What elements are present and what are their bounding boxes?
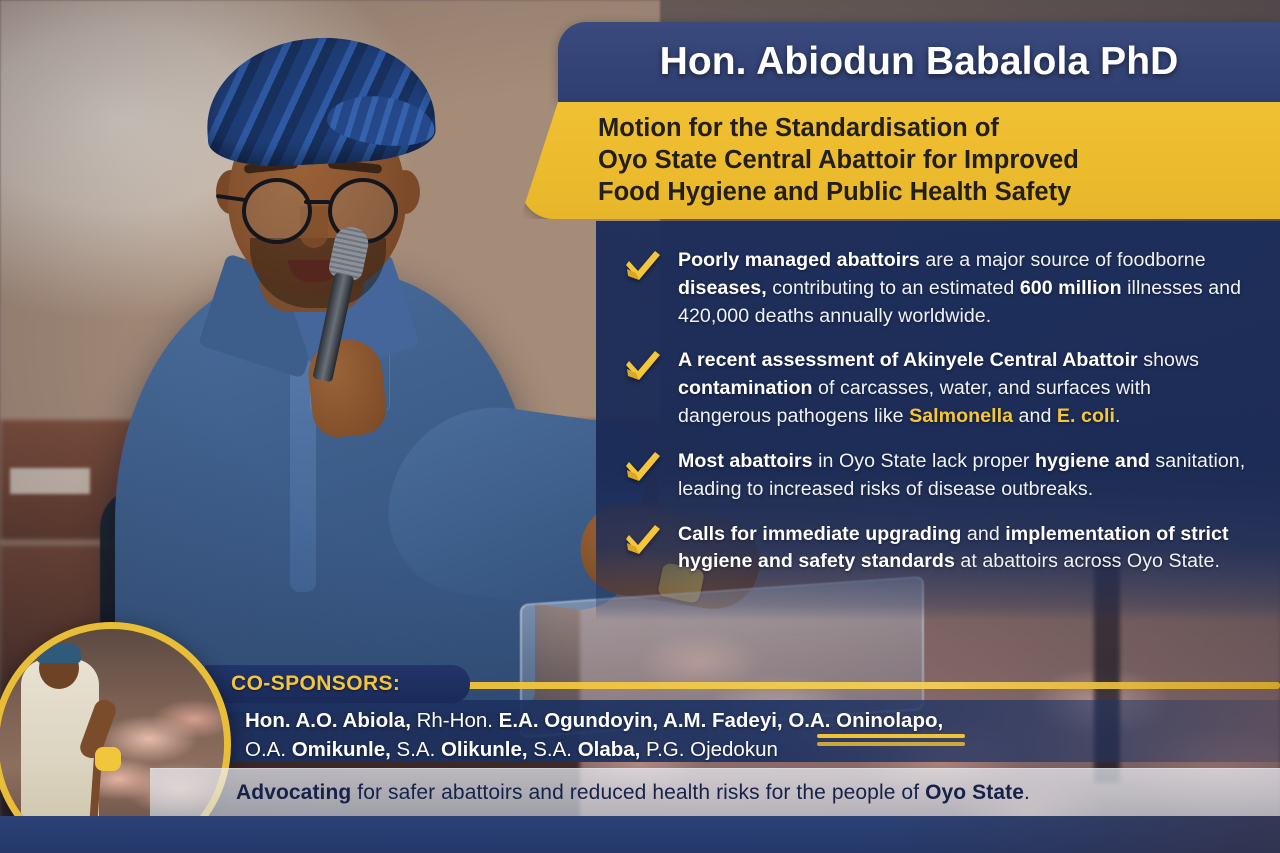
key-point-text: Poorly managed abattoirs are a major sou…	[678, 249, 1241, 327]
cosponsors-panel: Hon. A.O. Abiola, Rh-Hon. E.A. Ogundoyin…	[150, 700, 1280, 762]
inset-worker-glove	[95, 747, 121, 771]
key-points-panel: Poorly managed abattoirs are a major sou…	[596, 221, 1280, 621]
key-point-text: A recent assessment of Akinyele Central …	[678, 349, 1199, 427]
key-point-text: Most abattoirs in Oyo State lack proper …	[678, 450, 1245, 500]
bottom-strip	[0, 816, 1280, 853]
checkmark-icon	[622, 523, 664, 561]
tagline-bar: Advocating for safer abattoirs and reduc…	[150, 768, 1280, 818]
checkmark-icon	[622, 349, 664, 387]
cosponsors-rule	[420, 682, 1280, 689]
cosponsors-accent-dash-2	[817, 742, 965, 746]
key-points-list: Poorly managed abattoirs are a major sou…	[616, 247, 1246, 576]
key-point-1: Poorly managed abattoirs are a major sou…	[616, 247, 1246, 330]
motion-line-2: Oyo State Central Abattoir for Improved	[598, 144, 1262, 176]
bottom-strip-shade	[850, 816, 1280, 853]
cosponsors-line-2: O.A. Omikunle, S.A. Olikunle, S.A. Olaba…	[245, 735, 943, 764]
cosponsors-label: CO-SPONSORS:	[205, 672, 400, 696]
poster-root: Hon. Abiodun Babalola PhD Motion for the…	[0, 0, 1280, 853]
checkmark-icon	[622, 249, 664, 287]
tagline-text: Advocating for safer abattoirs and reduc…	[150, 781, 1030, 805]
cosponsors-label-tab: CO-SPONSORS:	[205, 665, 470, 703]
motion-banner: Motion for the Standardisation of Oyo St…	[520, 102, 1280, 219]
key-point-text: Calls for immediate upgrading and implem…	[678, 523, 1229, 573]
inset-worker-cap	[37, 643, 81, 663]
key-point-4: Calls for immediate upgrading and implem…	[616, 521, 1246, 577]
name-banner: Hon. Abiodun Babalola PhD	[558, 22, 1280, 102]
page-title: Hon. Abiodun Babalola PhD	[660, 40, 1179, 84]
key-point-2: A recent assessment of Akinyele Central …	[616, 347, 1246, 430]
motion-title: Motion for the Standardisation of Oyo St…	[598, 112, 1262, 208]
checkmark-icon	[622, 450, 664, 488]
cosponsors-line-1: Hon. A.O. Abiola, Rh-Hon. E.A. Ogundoyin…	[245, 706, 943, 735]
cosponsors-accent-dash-1	[817, 734, 965, 738]
motion-line-1: Motion for the Standardisation of	[598, 112, 1262, 144]
key-point-3: Most abattoirs in Oyo State lack proper …	[616, 448, 1246, 504]
motion-line-3: Food Hygiene and Public Health Safety	[598, 176, 1262, 208]
